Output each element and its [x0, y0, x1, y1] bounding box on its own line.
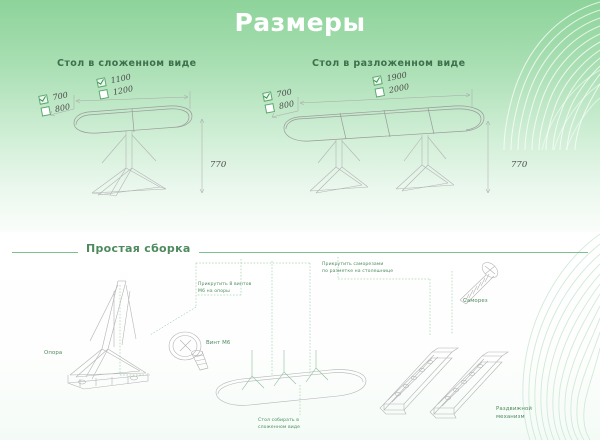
label-bolt: Винт М6	[206, 340, 230, 348]
checkbox-unchecked-icon[interactable]	[98, 89, 109, 100]
section-caption-folded: Стол в сложенном виде	[57, 58, 197, 69]
note-bolts: Прикрутить 8 винтов М6 на опоры	[198, 282, 251, 295]
checkbox-checked-icon[interactable]	[38, 94, 49, 105]
section-caption-extended: Стол в разложенном виде	[312, 58, 465, 69]
checkbox-unchecked-icon[interactable]	[264, 103, 275, 114]
checkbox-unchecked-icon[interactable]	[374, 87, 385, 98]
checkbox-checked-icon[interactable]	[262, 91, 273, 102]
extended-height-value: 770	[511, 160, 527, 170]
support-leg-drawing	[40, 275, 180, 400]
sliding-mechanism-drawing	[378, 338, 513, 430]
note-assemble-folded: Стол собирать в сложенном виде	[258, 418, 300, 431]
label-mechanism: Раздвижной механизм	[496, 406, 532, 422]
instruction-sheet: Размеры Стол в сложенном виде	[0, 0, 600, 440]
option-value: 1200	[112, 84, 134, 97]
label-screw: Саморез	[463, 298, 488, 306]
bolt-m6-drawing	[166, 330, 216, 376]
tabletop-assembly-drawing	[210, 350, 370, 420]
option-value: 700	[52, 90, 69, 102]
checkbox-checked-icon[interactable]	[372, 75, 383, 86]
option-value: 800	[278, 99, 295, 111]
assembly-caption: Простая сборка	[78, 242, 199, 255]
note-screws: Прикрутить саморезами по разметке на сто…	[322, 262, 393, 275]
folded-table-drawing	[40, 75, 255, 210]
checkbox-checked-icon[interactable]	[96, 77, 107, 88]
checkbox-unchecked-icon[interactable]	[40, 106, 51, 117]
option-value: 2000	[388, 82, 410, 95]
page-title: Размеры	[0, 8, 600, 37]
option-value: 800	[54, 102, 71, 114]
option-value: 700	[276, 87, 293, 99]
folded-height-value: 770	[210, 160, 226, 170]
label-support: Опора	[44, 350, 62, 358]
